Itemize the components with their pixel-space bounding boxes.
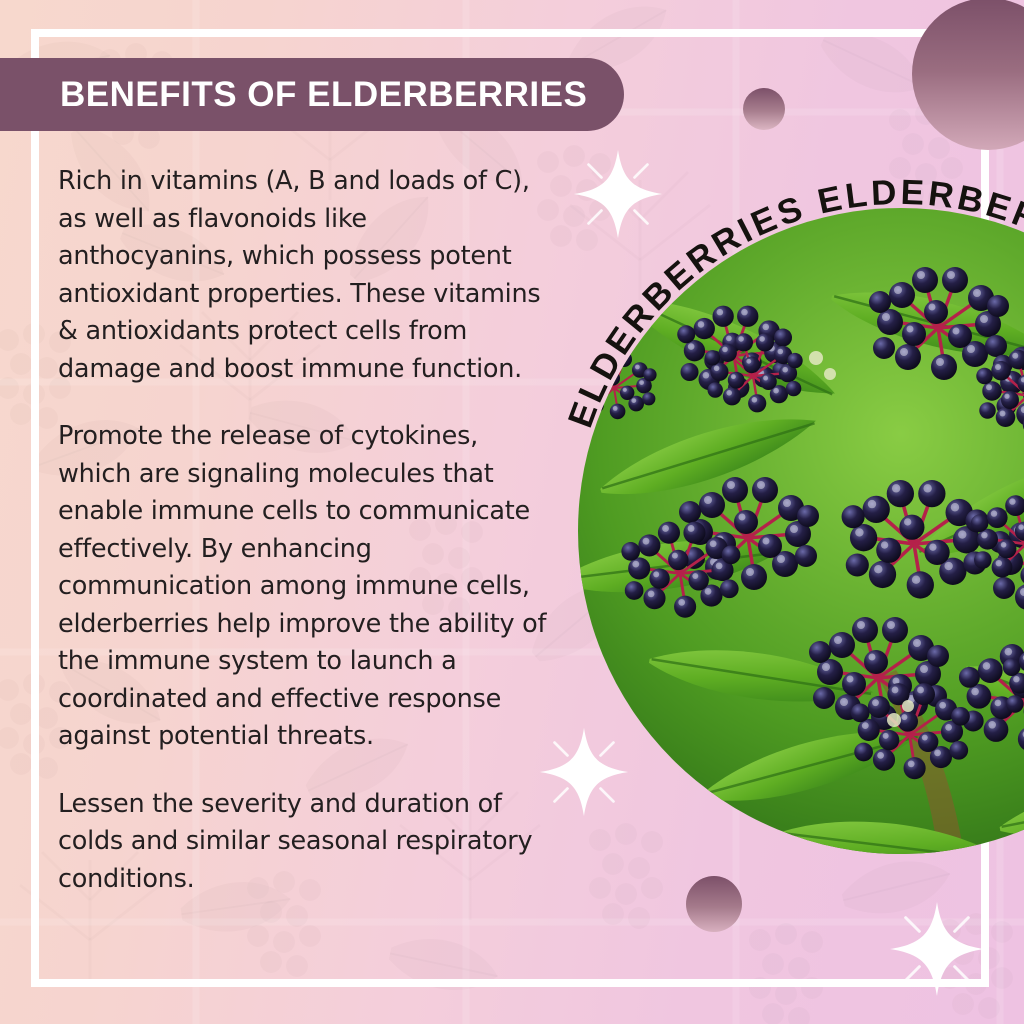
accent-circle-bottom [686, 876, 742, 932]
elderberry-photo [578, 208, 1024, 854]
benefit-paragraph-1: Rich in vitamins (A, B and loads of C), … [58, 163, 548, 388]
sparkle-icon-bottom-right [888, 900, 986, 998]
page-title: BENEFITS OF ELDERBERRIES [60, 75, 587, 115]
benefit-paragraph-2: Promote the release of cytokines, which … [58, 418, 548, 756]
benefit-paragraph-3: Lessen the severity and duration of cold… [58, 786, 548, 899]
accent-circle-top [743, 88, 785, 130]
poster-canvas: ELDERBERRIES ELDERBERRIES ELDERBERRIES E… [0, 0, 1024, 1024]
accent-circle-top-right [912, 0, 1024, 150]
benefits-body-copy: Rich in vitamins (A, B and loads of C), … [58, 163, 548, 898]
elderberry-photo-medallion: ELDERBERRIES ELDERBERRIES ELDERBERRIES E… [578, 208, 1024, 854]
title-banner: BENEFITS OF ELDERBERRIES [0, 58, 624, 131]
